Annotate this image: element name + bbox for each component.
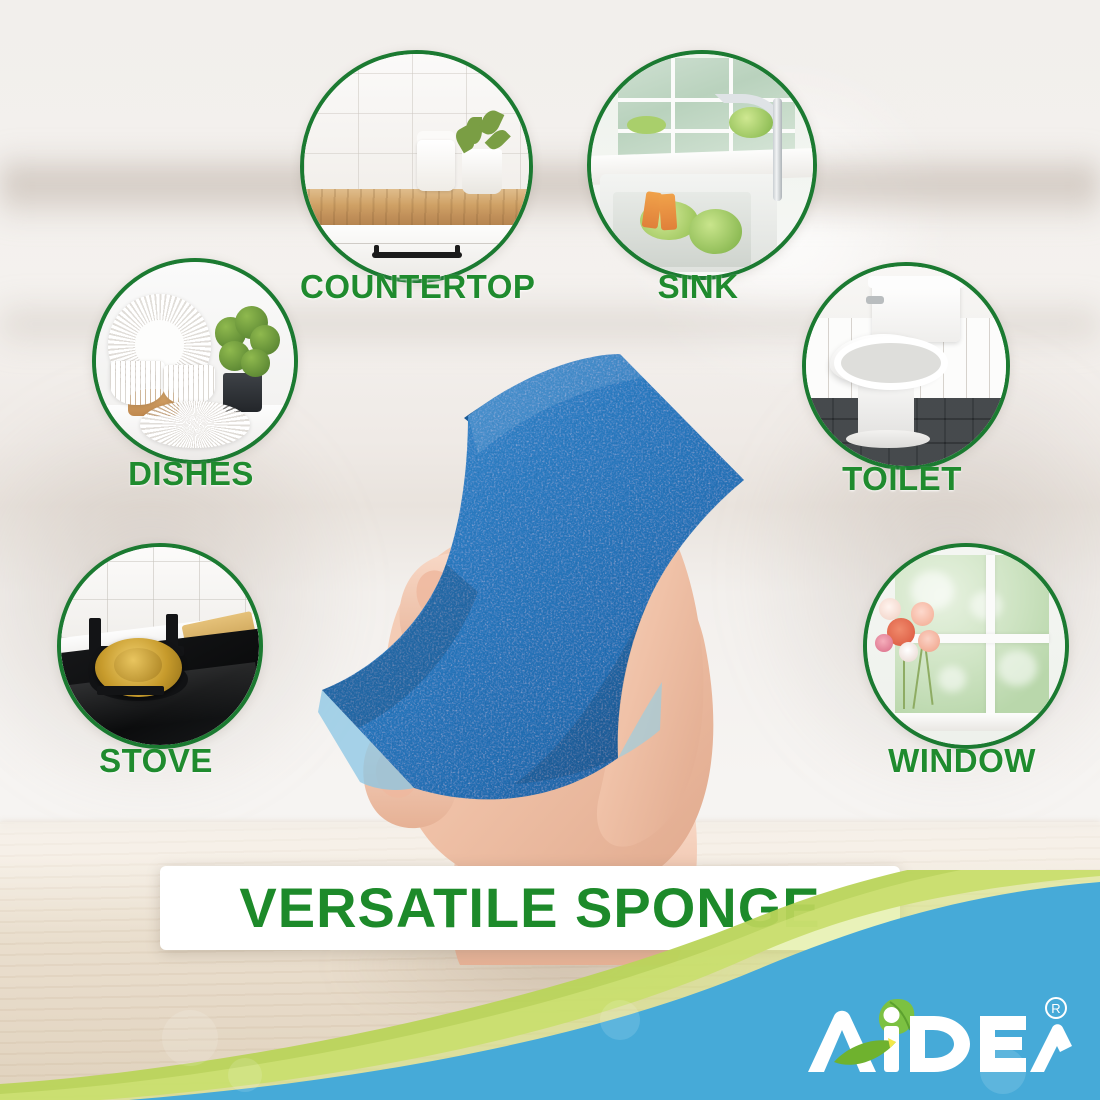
background-shelf: [0, 150, 1100, 220]
feature-label-stove: STOVE: [34, 742, 278, 780]
band-bubble: [228, 1058, 262, 1092]
feature-label-toilet: TOILET: [780, 460, 1024, 498]
feature-label-sink: SINK: [587, 268, 809, 306]
product-infographic: COUNTERTOP: [0, 0, 1100, 1100]
feature-label-window: WINDOW: [840, 742, 1084, 780]
svg-text:R: R: [1051, 1001, 1060, 1016]
registered-trademark: R: [1046, 998, 1066, 1018]
stove-photo-icon: [57, 543, 263, 749]
band-bubble: [162, 1010, 218, 1066]
sink-photo-icon: [587, 50, 817, 280]
band-bubble: [600, 1000, 640, 1040]
brand-logo: R: [804, 990, 1074, 1082]
countertop-photo-icon: [300, 50, 533, 283]
feature-label-countertop: COUNTERTOP: [300, 268, 525, 306]
toilet-photo-icon: [802, 262, 1010, 470]
sponge-product: [318, 352, 748, 812]
window-photo-icon: [863, 543, 1069, 749]
